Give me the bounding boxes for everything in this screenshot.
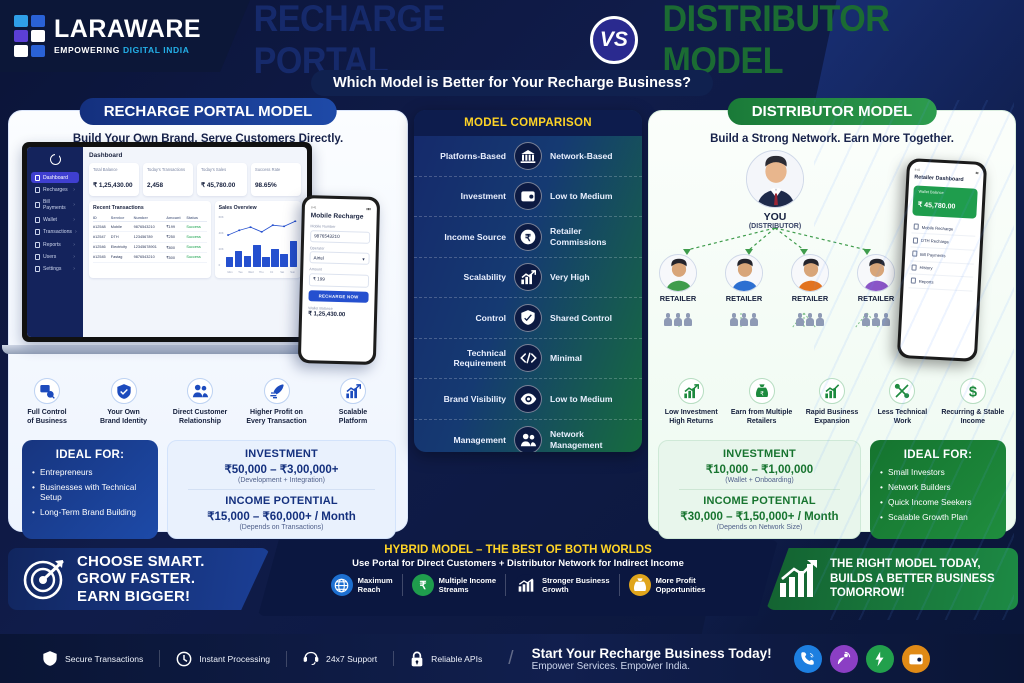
brand-logo: LARAWARE EMPOWERING DIGITAL INDIA [0,0,250,72]
operator-select[interactable]: Airtel▼ [309,251,369,265]
comparison-left-value: Income Source [423,232,514,242]
tools-icon [889,378,915,404]
feature-label: Recurring & StableIncome [938,408,1008,426]
right-income-title: INCOME POTENTIAL [667,495,852,507]
feature-item: Full Controlof Business [10,378,84,426]
phone-status-bar: 9:41▮▮▮ [311,205,371,211]
headset-icon [303,651,319,666]
comparison-left-value: Management [423,435,514,445]
hybrid-benefit-label: More ProfitOpportunities [656,576,706,595]
hybrid-benefit: Stronger BusinessGrowth [506,574,620,596]
bill-icon [35,202,40,208]
retailer-avatar [659,254,697,292]
comparison-row: Brand Visibility Low to Medium [414,379,642,420]
sidebar-item-bill-payments[interactable]: Bill Payments› [31,196,79,213]
comparison-row: Scalability Very High [414,258,642,299]
logo-tile [14,30,28,42]
right-investment-amount: ₹10,000 – ₹1,00,000 [667,462,852,476]
main-title: RECHARGE PORTAL VS DISTRIBUTOR MODEL [240,14,1010,66]
sidebar-item-settings[interactable]: Settings› [31,263,79,274]
left-ideal-for-box: IDEAL FOR: EntrepreneursBusinesses with … [22,440,158,539]
menu-icon [913,237,918,243]
comparison-right-value: Minimal [542,353,633,363]
feature-label: Higher Profit onEvery Transaction [240,408,314,426]
rupee-icon: ₹ [412,574,434,596]
rupee-coin-icon: ₹ [514,223,542,251]
money-bag-icon: ₹ [749,378,775,404]
retailer-wallet-value: ₹ 45,780.00 [918,201,956,210]
app-logo-icon [50,154,61,165]
comparison-left-value: TechnicalRequirement [423,348,514,369]
stat-card: Today's Sales₹ 45,780.00 [197,163,247,196]
retailer-label: RETAILER [850,294,902,303]
customer-group [718,313,770,326]
people-icon [514,426,542,452]
recharge-now-button[interactable]: RECHARGE NOW [308,290,368,303]
sidebar-item-users[interactable]: Users› [31,251,79,262]
growth-chart-icon [514,263,542,291]
retailer-menu-item[interactable]: DTH Recharge [911,234,976,251]
chart-bar [253,245,261,267]
feature-label: Direct CustomerRelationship [163,408,237,426]
feature-label: ScalablePlatform [316,408,390,426]
right-summary-boxes: INVESTMENT ₹10,000 – ₹1,00,000 (Wallet +… [658,440,1006,539]
retailer-label: RETAILER [718,294,770,303]
table-row: #12545Fastag9876543210₹500Success [93,252,207,262]
feature-label: Full Controlof Business [10,408,84,426]
header: LARAWARE EMPOWERING DIGITAL INDIA RECHAR… [0,0,1024,95]
list-item: Quick Income Seekers [880,497,996,507]
retailer-nodes: RETAILER RETAILER RETAILER RETAILER [652,254,902,326]
divider [679,489,840,490]
list-item: Long-Term Brand Building [32,507,148,517]
svg-text:₹: ₹ [760,391,764,398]
left-ideal-title: IDEAL FOR: [32,449,148,461]
comparison-right-value: Very High [542,272,633,282]
feature-label: Your OwnBrand Identity [87,408,161,426]
retailer-node: RETAILER [652,254,704,326]
feature-item: Your OwnBrand Identity [87,378,161,426]
cta-right-banner: THE RIGHT MODEL TODAY,BUILDS A BETTER BU… [766,548,1018,610]
chart-bar [262,257,270,267]
comparison-left-value: Brand Visibility [423,394,514,404]
shield-check-icon [42,650,58,667]
users-icon [35,254,40,260]
hybrid-benefit: ₹ More ProfitOpportunities [620,574,715,596]
footer-item-label: Reliable APIs [431,654,482,664]
chart-bar [290,241,298,267]
table-row: #12548Mobile9876543210₹199Success [93,222,207,232]
chart-bar [226,257,234,267]
feature-label: Rapid BusinessExpansion [797,408,867,426]
sidebar-item-reports[interactable]: Reports› [31,239,79,250]
retailer-label: RETAILER [652,294,704,303]
title-right: DISTRIBUTOR MODEL [662,0,995,82]
comparison-left-value: Platforns-Based [423,151,514,161]
table-row: #12546Electricity12345678901₹800Success [93,242,207,252]
money-bag-icon: ₹ [629,574,651,596]
logo-grid-icon [14,15,45,57]
retailer-node: RETAILER [850,254,902,326]
left-income-title: INCOME POTENTIAL [176,495,387,507]
left-investment-box: INVESTMENT ₹50,000 – ₹3,00,000+ (Develop… [167,440,396,539]
footer-item: Secure Transactions [26,650,160,667]
list-item: Small Investors [880,467,996,477]
comparison-left-value: Control [423,313,514,323]
retailer-wallet-label: Wallet Balance [918,189,972,196]
hybrid-subtitle: Use Portal for Direct Customers + Distri… [268,558,768,569]
stat-card: Success Rate98.65% [251,163,301,196]
feature-item: Low InvestmentHigh Returns [656,378,726,426]
comparison-row: Income Source ₹ Retailer Commissions [414,217,642,258]
comparison-row: Investment Low to Medium [414,177,642,218]
left-income-amount: ₹15,000 – ₹60,000+ / Month [176,509,387,523]
left-investment-title: INVESTMENT [176,448,387,460]
transactions-table: IDServiceNumberAmountStatus #12548Mobile… [93,214,207,263]
feature-item: Rapid BusinessExpansion [797,378,867,426]
right-features: Low InvestmentHigh Returns ₹ Earn from M… [656,378,1008,426]
right-panel-subheading: Build a Strong Network. Earn More Togeth… [649,133,1015,145]
control-icon [34,378,60,404]
header-subtitle: Which Model is Better for Your Recharge … [311,70,713,96]
plug-icon[interactable] [866,645,894,673]
amount-label: Amount [309,267,369,273]
sidebar-item-wallet[interactable]: Wallet› [31,215,79,226]
brand-name: LARAWARE [54,17,201,42]
phone-title: Mobile Recharge [311,212,371,221]
brand-tagline: EMPOWERING DIGITAL INDIA [54,46,201,55]
hybrid-benefit: MaximumReach [322,574,403,596]
satellite-dish-icon[interactable] [830,645,858,673]
right-investment-note: (Wallet + Onboarding) [667,477,852,484]
phone-wallet-value: ₹ 1,25,430.00 [308,310,368,319]
distributor-avatar [746,150,804,208]
laptop-mockup: Dashboard Recharges› Bill Payments› Wall… [22,142,312,342]
feature-item: ₹ Earn from MultipleRetailers [726,378,796,426]
feature-label: Low InvestmentHigh Returns [656,408,726,426]
left-features: Full Controlof Business Your OwnBrand Id… [10,378,390,426]
hybrid-benefit: ₹ Multiple IncomeStreams [403,574,506,596]
right-investment-box: INVESTMENT ₹10,000 – ₹1,00,000 (Wallet +… [658,440,861,539]
hybrid-benefit-label: MaximumReach [358,576,393,595]
footer-item: 24x7 Support [287,651,394,666]
left-panel-heading: RECHARGE PORTAL MODEL [80,98,337,125]
table-header: Status [186,214,206,222]
comparison-right-value: Low to Medium [542,394,633,404]
left-investment-amount: ₹50,000 – ₹3,00,000+ [176,462,387,476]
retailer-menu-item[interactable]: Mobile Recharge [911,220,976,237]
hybrid-model-banner: HYBRID MODEL – THE BEST OF BOTH WORLDS U… [258,540,778,616]
recent-transactions-card: Recent Transactions IDServiceNumberAmoun… [89,201,211,278]
table-header: Amount [166,214,186,222]
bar-growth-icon [515,574,537,596]
footer-item-label: 24x7 Support [326,654,377,664]
footer-cta-subtitle: Empower Services. Empower India. [532,661,772,672]
stat-card: Today's Transactions2,458 [143,163,193,196]
phone-icon[interactable] [794,645,822,673]
sidebar-item-recharges[interactable]: Recharges› [31,184,79,195]
svg-text:₹: ₹ [525,233,531,243]
retailer-menu-item[interactable]: Bill Payments [910,247,975,264]
sales-chart: 60K40K20K0 MonTueWedThuFriSatSun [219,214,297,274]
chart-y-axis: 60K40K20K0 [219,214,226,274]
logo-tile [31,15,45,27]
menu-icon [911,264,916,270]
target-icon [22,557,66,601]
retailer-dashboard-title: Retailer Dashboard [914,174,978,184]
operator-label: Operator [310,246,370,252]
table-row: #12547DTH123456789₹250Success [93,232,207,242]
feature-item: Less TechnicalWork [867,378,937,426]
right-ideal-for-box: IDEAL FOR: Small InvestorsNetwork Builde… [870,440,1006,539]
transactions-icon [35,229,40,235]
right-income-amount: ₹30,000 – ₹1,50,000+ / Month [667,509,852,523]
sales-overview-card: Sales Overview 60K40K20K0 MonTueWedThuFr… [215,201,301,278]
dashboard-main: Dashboard Total Balance₹ 1,25,430.00Toda… [83,147,307,337]
stat-card: Total Balance₹ 1,25,430.00 [89,163,139,196]
logo-tile [31,45,45,57]
recharge-icon [35,187,40,193]
list-item: Businesses with Technical Setup [32,482,148,503]
distributor-network-diagram: YOU (DISTRIBUTOR) RETAILER RETAILER RETA… [652,150,902,370]
feature-item: ScalablePlatform [316,378,390,426]
feature-item: Direct CustomerRelationship [163,378,237,426]
shield-icon [514,304,542,332]
right-investment-title: INVESTMENT [667,448,852,460]
footer-bar: Secure Transactions Instant Processing 2… [0,634,1024,683]
menu-icon [914,224,919,230]
footer-trust-items: Secure Transactions Instant Processing 2… [0,650,498,667]
feature-label: Earn from MultipleRetailers [726,408,796,426]
footer-item: Instant Processing [160,651,287,667]
right-ideal-title: IDEAL FOR: [880,449,996,461]
comparison-right-value: Low to Medium [542,191,633,201]
hybrid-benefit-label: Multiple IncomeStreams [439,576,496,595]
logo-tile [14,45,28,57]
distributor-node: YOU (DISTRIBUTOR) [744,150,806,230]
customer-group [652,313,704,326]
retailer-label: RETAILER [784,294,836,303]
cta-left-text: CHOOSE SMART.GROW FASTER.EARN BIGGER! [77,553,205,605]
mobile-number-label: Mobile Number [310,224,370,230]
comparison-row: Platforns-Based Network-Based [414,136,642,177]
customer-group [850,313,902,326]
cta-right-text: THE RIGHT MODEL TODAY,BUILDS A BETTER BU… [830,557,995,600]
right-income-note: (Depends on Network Size) [667,524,852,531]
infographic-page: LARAWARE EMPOWERING DIGITAL INDIA RECHAR… [0,0,1024,683]
comparison-left-value: Scalability [423,272,514,282]
list-item: Entrepreneurs [32,467,148,477]
customer-group [784,313,836,326]
customer-phone-mockup: 9:41▮▮▮ Mobile Recharge Mobile Number 98… [298,195,380,365]
comparison-row: TechnicalRequirement Minimal [414,339,642,380]
mobile-number-input[interactable]: 9876543210 [310,230,370,244]
expansion-chart-icon [819,378,845,404]
cta-left-banner: CHOOSE SMART.GROW FASTER.EARN BIGGER! [8,548,270,610]
chart-bar [271,249,279,267]
left-income-note: (Depends on Transactions) [176,524,387,531]
list-item: Scalable Growth Plan [880,512,996,522]
growth-chart-icon [340,378,366,404]
svg-text:$: $ [969,384,977,400]
chart-x-axis: MonTueWedThuFriSatSun [226,271,297,274]
rocket-icon [264,378,290,404]
footer-item-label: Instant Processing [199,654,270,664]
feature-item: $ Recurring & StableIncome [938,378,1008,426]
bar-growth-icon [778,559,820,599]
logo-tile [14,15,28,27]
comparison-row: Control Shared Control [414,298,642,339]
footer-item-label: Secure Transactions [65,654,143,664]
svg-text:₹: ₹ [638,585,642,592]
retailer-phone-mockup: 9:41▮▮ Retailer Dashboard Wallet Balance… [897,158,987,362]
eye-icon [514,385,542,413]
chart-bar [235,251,243,267]
comparison-left-value: Investment [423,191,514,201]
retailer-node: RETAILER [784,254,836,326]
footer-cta: Start Your Recharge Business Today! Empo… [532,646,772,672]
bank-building-icon [514,142,542,170]
footer-service-icons [794,645,930,673]
table-header: Number [134,214,167,222]
chart-bar [244,256,252,267]
lock-icon [410,651,424,667]
stat-cards: Total Balance₹ 1,25,430.00Today's Transa… [89,163,301,196]
menu-icon [912,251,917,257]
comparison-right-value: Shared Control [542,313,633,323]
model-comparison-panel: MODEL COMPARISON Platforns-Based Network… [414,110,642,452]
hybrid-title: HYBRID MODEL – THE BEST OF BOTH WORLDS [268,544,768,556]
divider [188,489,375,490]
wallet-icon [35,217,40,223]
globe-icon [331,574,353,596]
sidebar-item-transactions[interactable]: Transactions› [31,227,79,238]
settings-icon [35,266,40,272]
retailer-menu-item[interactable]: History [909,261,974,278]
svg-text:₹: ₹ [419,580,426,592]
retailer-wallet-card: Wallet Balance ₹ 45,780.00 [912,185,977,218]
dashboard-title: Dashboard [89,152,301,159]
logo-tile [31,30,45,42]
comparison-right-value: Network-Based [542,151,633,161]
comparison-right-value: NetworkManagement [542,429,633,450]
right-panel-heading: DISTRIBUTOR MODEL [728,98,937,125]
wallet-icon [514,182,542,210]
chart-bar [280,254,288,267]
retailer-avatar [857,254,895,292]
dashboard-icon [35,175,40,181]
retailer-node: RETAILER [718,254,770,326]
hybrid-benefit-label: Stronger BusinessGrowth [542,576,610,595]
list-item: Network Builders [880,482,996,492]
amount-input[interactable]: ₹ 199 [309,273,369,288]
distributor-label: YOU [744,211,806,223]
distributor-role: (DISTRIBUTOR) [744,223,806,230]
comparison-right-value: Retailer Commissions [542,226,633,247]
footer-item: Reliable APIs [394,651,498,667]
retailer-avatar [725,254,763,292]
sales-title: Sales Overview [219,205,297,211]
table-header: ID [93,214,111,222]
chart-bar-series [226,241,297,267]
code-icon [514,344,542,372]
laptop-base [2,345,332,354]
people-icon [187,378,213,404]
chevron-down-icon: ▼ [362,256,366,261]
retailer-menu-item[interactable]: Reports [908,274,973,291]
footer-cta-title: Start Your Recharge Business Today! [532,646,772,661]
sidebar-item-dashboard[interactable]: Dashboard [31,172,79,183]
feature-label: Less TechnicalWork [867,408,937,426]
footer-divider: / [508,648,513,670]
feature-item: Higher Profit onEvery Transaction [240,378,314,426]
retailer-avatar [791,254,829,292]
comparison-title: MODEL COMPARISON [414,110,642,136]
left-investment-note: (Development + Integration) [176,477,387,484]
menu-icon [911,278,916,284]
transactions-title: Recent Transactions [93,205,207,211]
reports-icon [35,242,40,248]
retailer-phone-status-bar: 9:41▮▮ [915,167,979,174]
table-header: Service [111,214,134,222]
growth-chart-icon [678,378,704,404]
dashboard-sidebar: Dashboard Recharges› Bill Payments› Wall… [27,147,83,337]
left-summary-boxes: IDEAL FOR: EntrepreneursBusinesses with … [22,440,396,539]
shield-check-icon [111,378,137,404]
clock-icon [176,651,192,667]
wallet-icon[interactable] [902,645,930,673]
dollar-icon: $ [960,378,986,404]
comparison-row: Management NetworkManagement [414,420,642,453]
vs-badge: VS [590,16,638,64]
